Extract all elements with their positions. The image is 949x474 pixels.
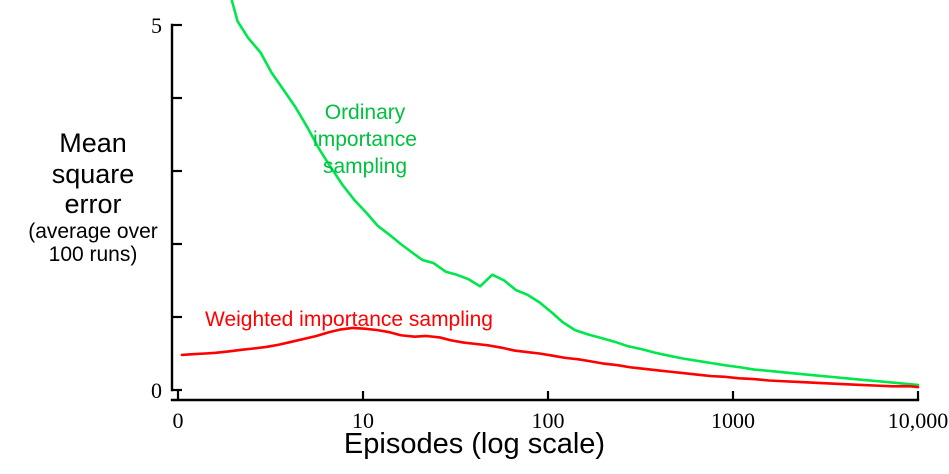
y-axis-label-line-0: Mean <box>18 128 168 159</box>
series-line-weighted-importance-sampling <box>182 328 918 387</box>
series-label-ordinary-line-1: importance <box>305 127 425 154</box>
chart-figure: 05010100100010,000 Mean square error (av… <box>0 0 949 474</box>
series-label-ordinary-line-2: sampling <box>305 154 425 181</box>
x-axis-label: Episodes (log scale) <box>0 428 949 461</box>
y-axis-label-line-2: error <box>18 189 168 220</box>
y-axis-label: Mean square error (average over 100 runs… <box>18 128 168 267</box>
y-axis-label-line-1: square <box>18 159 168 190</box>
y-axis-sublabel-line-0: (average over <box>18 220 168 244</box>
series-label-ordinary-line-0: Ordinary <box>305 100 425 127</box>
axis-tick-labels: 05010100100010,000 <box>151 13 948 433</box>
y-tick-label-5: 5 <box>151 13 162 38</box>
series-label-ordinary-importance-sampling: Ordinary importance sampling <box>305 100 425 181</box>
series-label-weighted-importance-sampling: Weighted importance sampling <box>205 308 493 332</box>
y-axis-sublabel-line-1: 100 runs) <box>18 243 168 267</box>
y-tick-label-0: 0 <box>151 378 162 403</box>
